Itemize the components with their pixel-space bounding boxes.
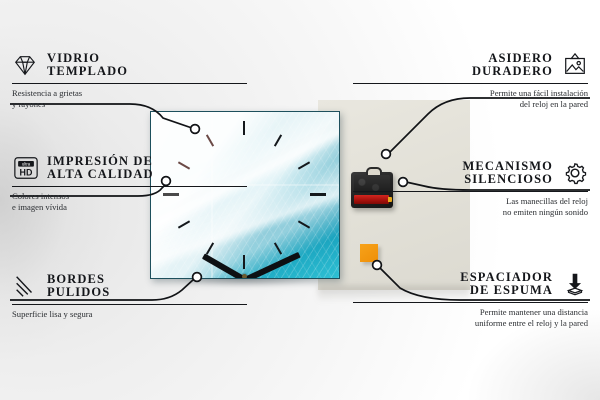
feature-subtitle: Colores intensos e imagen vívida (12, 191, 247, 214)
feature-vidrio-templado: VIDRIO TEMPLADO Resistencia a grietas y … (12, 52, 247, 111)
product-infographic: VIDRIO TEMPLADO Resistencia a grietas y … (0, 0, 600, 400)
feature-asidero-duradero: ASIDERO DURADERO Permite una fácil insta… (353, 52, 588, 111)
clock-tick (310, 193, 326, 196)
ultra-hd-badge-top: ultra (22, 162, 31, 167)
feature-espaciador-de-espuma: ESPACIADOR DE ESPUMA Permite mantener un… (353, 271, 588, 330)
feature-title-line1: IMPRESIÓN DE (47, 155, 153, 168)
feature-bordes-pulidos: BORDES PULIDOS Superficie lisa y segura (12, 273, 247, 320)
feature-divider (12, 304, 247, 305)
feature-divider (12, 186, 247, 187)
feature-title-line2: DURADERO (472, 65, 553, 78)
feature-subtitle: Permite una fácil instalación del reloj … (353, 88, 588, 111)
feature-subtitle: Las manecillas del reloj no emiten ningú… (353, 196, 588, 219)
clock-tick (243, 255, 245, 269)
down-arrow-pad-icon (562, 271, 588, 297)
polished-edges-icon (12, 273, 38, 299)
feature-title-line2: TEMPLADO (47, 65, 128, 78)
feature-subtitle: Superficie lisa y segura (12, 309, 247, 321)
feature-divider (12, 83, 247, 84)
gear-icon (562, 160, 588, 186)
feature-title-line1: MECANISMO (463, 160, 553, 173)
feature-divider (353, 191, 588, 192)
feature-title-line2: ALTA CALIDAD (47, 168, 154, 181)
feature-mecanismo-silencioso: MECANISMO SILENCIOSO Las manecillas del … (353, 160, 588, 219)
clock-tick (243, 121, 245, 135)
feature-title-line2: SILENCIOSO (464, 173, 553, 186)
ultra-hd-badge-icon: ultra HD (12, 155, 38, 181)
feature-divider (353, 302, 588, 303)
feature-title-line1: ASIDERO (488, 52, 553, 65)
feature-title-line2: DE ESPUMA (470, 284, 553, 297)
feature-subtitle: Permite mantener una distancia uniforme … (353, 307, 588, 330)
wall-hanger-frame-icon (562, 52, 588, 78)
diamond-icon (12, 52, 38, 78)
feature-title-line1: BORDES (47, 273, 105, 286)
feature-subtitle: Resistencia a grietas y rayones (12, 88, 247, 111)
foam-spacer (360, 244, 378, 262)
feature-title-line2: PULIDOS (47, 286, 110, 299)
feature-impresion-alta-calidad: ultra HD IMPRESIÓN DE ALTA CALIDAD Color… (12, 155, 247, 214)
feature-title-line1: ESPACIADOR (460, 271, 553, 284)
feature-title-line1: VIDRIO (47, 52, 100, 65)
feature-divider (353, 83, 588, 84)
ultra-hd-badge-bottom: HD (20, 168, 33, 178)
